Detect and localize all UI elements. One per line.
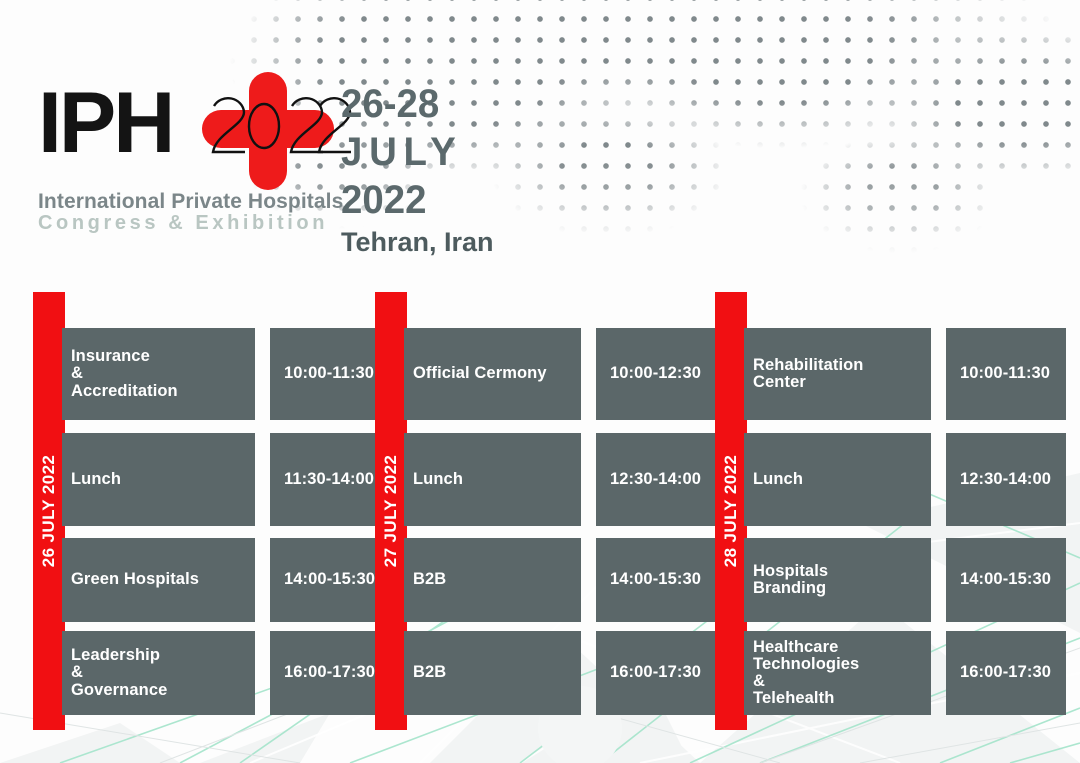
brand-subtitle-primary: International Private Hospitals [38,190,343,214]
session-topic-card: Lunch [62,433,255,526]
event-year: 2022 [341,180,487,220]
session-time-label: 10:00-11:30 [960,365,1050,382]
session-topic-label: Healthcare Technologies & Telehealth [753,639,859,708]
session-row: Hospitals Branding14:00-15:30 [744,538,1066,622]
session-topic-label: B2B [413,664,446,681]
session-topic-label: Lunch [753,471,803,488]
session-topic-card: Insurance & Accreditation [62,328,255,420]
session-time-label: 12:30-14:00 [960,471,1051,488]
session-topic-card: Hospitals Branding [744,538,931,622]
day-date-bar: 28 JULY 2022 [715,292,747,730]
session-topic-card: Lunch [404,433,581,526]
session-time-label: 11:30-14:00 [284,471,374,488]
session-row: Lunch12:30-14:00 [744,433,1066,526]
session-time-label: 16:00-17:30 [960,664,1051,681]
session-row: Insurance & Accreditation10:00-11:30 [62,328,390,420]
session-row: Leadership & Governance16:00-17:30 [62,631,390,715]
session-time-label: 16:00-17:30 [610,664,701,681]
session-row: B2B16:00-17:30 [404,631,716,715]
session-topic-card: B2B [404,631,581,715]
event-location: Tehran, Iran [341,229,494,256]
session-row: Official Cermony10:00-12:30 [404,328,716,420]
session-row: Lunch12:30-14:00 [404,433,716,526]
event-month: JULY [341,132,487,172]
day-date-label: 26 JULY 2022 [39,455,59,568]
session-time-card: 12:30-14:00 [596,433,716,526]
session-time-card: 12:30-14:00 [946,433,1066,526]
session-row: B2B14:00-15:30 [404,538,716,622]
event-date-block: 26-28 JULY 2022 Tehran, Iran [341,84,494,256]
event-dates: 26-28 [341,84,487,124]
day-date-bar: 26 JULY 2022 [33,292,65,730]
session-time-card: 16:00-17:30 [946,631,1066,715]
session-time-label: 10:00-12:30 [610,365,701,382]
session-time-label: 14:00-15:30 [284,571,375,588]
red-cross-2022-logo-icon [192,66,357,196]
session-time-label: 12:30-14:00 [610,471,701,488]
session-topic-label: Lunch [413,471,463,488]
session-time-label: 16:00-17:30 [284,664,375,681]
brand-acronym: IPH [38,80,172,166]
session-topic-card: Rehabilitation Center [744,328,931,420]
session-topic-card: Leadership & Governance [62,631,255,715]
session-topic-label: B2B [413,571,446,588]
session-time-card: 14:00-15:30 [270,538,390,622]
congress-schedule-poster: IPH International Private Hospitals Cong… [0,0,1080,763]
session-time-card: 14:00-15:30 [946,538,1066,622]
session-time-card: 10:00-11:30 [270,328,390,420]
session-topic-label: Official Cermony [413,365,547,382]
session-topic-label: Insurance & Accreditation [71,348,178,399]
session-topic-card: Lunch [744,433,931,526]
session-time-card: 14:00-15:30 [596,538,716,622]
session-topic-card: Official Cermony [404,328,581,420]
session-topic-label: Rehabilitation Center [753,357,864,391]
session-topic-label: Lunch [71,471,121,488]
session-time-label: 14:00-15:30 [960,571,1051,588]
brand-subtitle-secondary: Congress & Exhibition [38,212,328,235]
session-topic-card: Green Hospitals [62,538,255,622]
session-time-card: 11:30-14:00 [270,433,390,526]
session-topic-label: Leadership & Governance [71,647,167,698]
day-date-bar: 27 JULY 2022 [375,292,407,730]
session-row: Rehabilitation Center10:00-11:30 [744,328,1066,420]
session-row: Lunch11:30-14:00 [62,433,390,526]
session-time-label: 14:00-15:30 [610,571,701,588]
session-time-card: 10:00-12:30 [596,328,716,420]
session-time-card: 16:00-17:30 [270,631,390,715]
session-topic-card: Healthcare Technologies & Telehealth [744,631,931,715]
session-time-label: 10:00-11:30 [284,365,374,382]
session-time-card: 16:00-17:30 [596,631,716,715]
session-row: Green Hospitals14:00-15:30 [62,538,390,622]
session-time-card: 10:00-11:30 [946,328,1066,420]
session-topic-label: Hospitals Branding [753,563,828,597]
session-row: Healthcare Technologies & Telehealth16:0… [744,631,1066,715]
session-topic-label: Green Hospitals [71,571,199,588]
day-date-label: 28 JULY 2022 [721,455,741,568]
session-topic-card: B2B [404,538,581,622]
day-date-label: 27 JULY 2022 [381,455,401,568]
